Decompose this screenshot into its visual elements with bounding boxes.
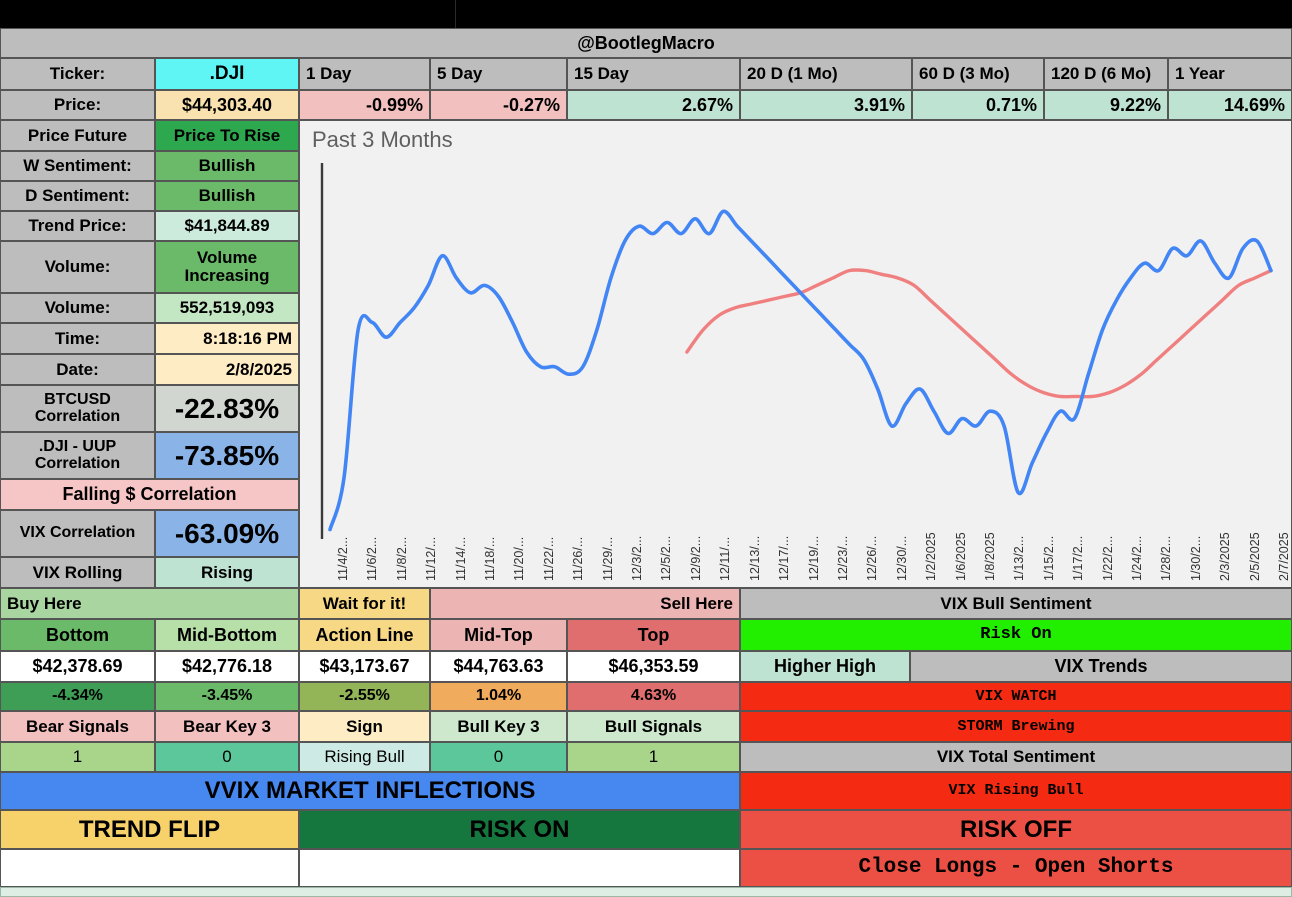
price-label: Price: <box>0 90 155 120</box>
chart-x-tick: 11/18/... <box>483 537 497 581</box>
sidebar-value-date: 2/8/2025 <box>155 354 299 385</box>
buy-here-banner: Buy Here <box>0 588 299 619</box>
chart-x-tick: 11/26/... <box>571 537 585 581</box>
vix-total-sentiment-label: VIX Total Sentiment <box>740 742 1292 772</box>
dashboard-grid: @BootlegMacro Ticker: .DJI 1 Day 5 Day 1… <box>0 28 1292 897</box>
level-price-bottom: $42,378.69 <box>0 651 155 682</box>
level-header-bottom: Bottom <box>0 619 155 651</box>
chart-x-tick: 12/26/... <box>865 536 879 581</box>
perf-col-15day: 15 Day <box>567 58 740 90</box>
level-percent-mid-bottom: -3.45% <box>155 682 299 711</box>
chart-x-tick: 11/20/... <box>512 537 526 581</box>
chart-x-tick: 12/3/2... <box>630 536 644 581</box>
chart-x-tick: 1/6/2025 <box>954 532 968 581</box>
sidebar-label-volume: Volume: <box>0 293 155 323</box>
sidebar-label-vix-correlation: VIX Correlation <box>0 510 155 557</box>
perf-col-1year: 1 Year <box>1168 58 1292 90</box>
ticker-label: Ticker: <box>0 58 155 90</box>
handle-banner: @BootlegMacro <box>0 28 1292 58</box>
chart-x-tick: 1/15/2... <box>1042 536 1056 581</box>
close-longs-open-shorts-status: Close Longs - Open Shorts <box>740 849 1292 887</box>
level-percent-mid-top: 1.04% <box>430 682 567 711</box>
chart-svg <box>300 121 1292 588</box>
bottom-strip <box>0 887 1292 897</box>
chart-x-tick: 2/3/2025 <box>1218 532 1232 581</box>
perf-value-120d: 9.22% <box>1044 90 1168 120</box>
vix-rising-bull-status: VIX Rising Bull <box>740 772 1292 810</box>
chart-x-tick: 1/17/2... <box>1071 536 1085 581</box>
perf-value-1day: -0.99% <box>299 90 430 120</box>
chart-x-tick: 12/17/... <box>777 536 791 581</box>
chart-x-tick: 12/11/... <box>718 537 732 581</box>
sidebar-label-vix-rolling: VIX Rolling <box>0 557 155 588</box>
sidebar-value-w-sentiment: Bullish <box>155 151 299 181</box>
level-price-mid-bottom: $42,776.18 <box>155 651 299 682</box>
level-price-mid-top: $44,763.63 <box>430 651 567 682</box>
perf-col-5day: 5 Day <box>430 58 567 90</box>
trend-flip-banner: TREND FLIP <box>0 810 299 849</box>
chart-x-tick: 12/19/... <box>807 536 821 581</box>
chart-x-tick: 1/8/2025 <box>983 532 997 581</box>
level-header-mid-bottom: Mid-Bottom <box>155 619 299 651</box>
perf-col-60d: 60 D (3 Mo) <box>912 58 1044 90</box>
signal-header-bear-signals: Bear Signals <box>0 711 155 742</box>
chart-x-tick: 12/13/... <box>748 536 762 581</box>
chart-x-tick: 1/28/2... <box>1159 536 1173 581</box>
chart-x-tick: 12/23/... <box>836 536 850 581</box>
vix-watch-status: VIX WATCH <box>740 682 1292 711</box>
chart-x-tick: 11/22/... <box>542 537 556 581</box>
sidebar-value-price-future: Price To Rise <box>155 120 299 151</box>
signal-value-bull-signals: 1 <box>567 742 740 772</box>
sidebar-value-volume: 552,519,093 <box>155 293 299 323</box>
higher-high-status: Higher High <box>740 651 910 682</box>
chart-x-tick: 2/7/2025 <box>1277 532 1291 581</box>
vix-bull-sentiment-banner: VIX Bull Sentiment <box>740 588 1292 619</box>
sidebar-value-btcusd-correlation: -22.83% <box>155 385 299 432</box>
chart-x-tick: 11/12/... <box>424 537 438 581</box>
perf-value-15day: 2.67% <box>567 90 740 120</box>
signal-value-sign: Rising Bull <box>299 742 430 772</box>
chart-x-tick: 12/30/... <box>895 536 909 581</box>
signal-header-bull-key3: Bull Key 3 <box>430 711 567 742</box>
chart-x-tick: 1/13/2... <box>1012 536 1026 581</box>
signal-value-bear-signals: 1 <box>0 742 155 772</box>
perf-value-60d: 0.71% <box>912 90 1044 120</box>
perf-col-1day: 1 Day <box>299 58 430 90</box>
sidebar-value-time: 8:18:16 PM <box>155 323 299 354</box>
risk-on-status: Risk On <box>740 619 1292 651</box>
vvix-market-inflections-banner: VVIX MARKET INFLECTIONS <box>0 772 740 810</box>
level-percent-action-line: -2.55% <box>299 682 430 711</box>
sidebar-label-w-sentiment: W Sentiment: <box>0 151 155 181</box>
chart-x-tick: 11/14/... <box>454 537 468 581</box>
sidebar-label-btcusd-correlation: BTCUSD Correlation <box>0 385 155 432</box>
storm-brewing-status: STORM Brewing <box>740 711 1292 742</box>
sidebar-value-trend-price: $41,844.89 <box>155 211 299 241</box>
vix-trends-label: VIX Trends <box>910 651 1292 682</box>
chart-x-tick: 11/6/2... <box>365 537 379 581</box>
level-header-action-line: Action Line <box>299 619 430 651</box>
sidebar-value-vix-rolling: Rising <box>155 557 299 588</box>
perf-value-5day: -0.27% <box>430 90 567 120</box>
top-black-bar <box>0 0 1292 28</box>
level-percent-bottom: -4.34% <box>0 682 155 711</box>
sidebar-label-time: Time: <box>0 323 155 354</box>
empty-cell-left <box>0 849 299 887</box>
level-header-mid-top: Mid-Top <box>430 619 567 651</box>
chart-x-tick: 1/22/2... <box>1101 536 1115 581</box>
signal-value-bear-key3: 0 <box>155 742 299 772</box>
perf-col-120d: 120 D (6 Mo) <box>1044 58 1168 90</box>
sidebar-label-trend-price: Trend Price: <box>0 211 155 241</box>
price-chart: Past 3 Months 11/4/2...11/6/2...11/8/2..… <box>299 120 1292 588</box>
chart-x-tick: 1/30/2... <box>1189 536 1203 581</box>
top-bar-divider <box>455 0 456 28</box>
dashboard-root: @BootlegMacro Ticker: .DJI 1 Day 5 Day 1… <box>0 0 1292 897</box>
perf-value-20d: 3.91% <box>740 90 912 120</box>
sidebar-label-price-future: Price Future <box>0 120 155 151</box>
sidebar-label-dji-uup-correlation: .DJI - UUP Correlation <box>0 432 155 479</box>
sidebar-label-d-sentiment: D Sentiment: <box>0 181 155 211</box>
ticker-value: .DJI <box>155 58 299 90</box>
empty-cell-mid <box>299 849 740 887</box>
chart-x-tick: 12/9/2... <box>689 536 703 581</box>
chart-x-tick: 12/5/2... <box>659 536 673 581</box>
level-price-top: $46,353.59 <box>567 651 740 682</box>
price-value: $44,303.40 <box>155 90 299 120</box>
signal-value-bull-key3: 0 <box>430 742 567 772</box>
sell-here-banner: Sell Here <box>430 588 740 619</box>
chart-x-tick: 11/8/2... <box>395 537 409 581</box>
sidebar-value-volume-trend: Volume Increasing <box>155 241 299 293</box>
chart-line-price <box>330 211 1271 529</box>
perf-col-20d: 20 D (1 Mo) <box>740 58 912 90</box>
sidebar-label-volume-trend: Volume: <box>0 241 155 293</box>
sidebar-value-d-sentiment: Bullish <box>155 181 299 211</box>
perf-value-1year: 14.69% <box>1168 90 1292 120</box>
wait-for-it-banner: Wait for it! <box>299 588 430 619</box>
level-header-top: Top <box>567 619 740 651</box>
signal-header-sign: Sign <box>299 711 430 742</box>
level-percent-top: 4.63% <box>567 682 740 711</box>
risk-on-banner: RISK ON <box>299 810 740 849</box>
chart-x-tick: 1/2/2025 <box>924 532 938 581</box>
chart-x-tick: 11/4/2... <box>336 537 350 581</box>
sidebar-label-date: Date: <box>0 354 155 385</box>
chart-x-tick: 2/5/2025 <box>1248 532 1262 581</box>
signal-header-bear-key3: Bear Key 3 <box>155 711 299 742</box>
sidebar-value-vix-correlation: -63.09% <box>155 510 299 557</box>
risk-off-banner: RISK OFF <box>740 810 1292 849</box>
signal-header-bull-signals: Bull Signals <box>567 711 740 742</box>
chart-x-tick: 1/24/2... <box>1130 536 1144 581</box>
sidebar-value-dji-uup-correlation: -73.85% <box>155 432 299 479</box>
level-price-action-line: $43,173.67 <box>299 651 430 682</box>
chart-line-trend <box>687 270 1271 397</box>
chart-x-tick: 11/29/... <box>601 537 615 581</box>
falling-dollar-correlation-banner: Falling $ Correlation <box>0 479 299 510</box>
